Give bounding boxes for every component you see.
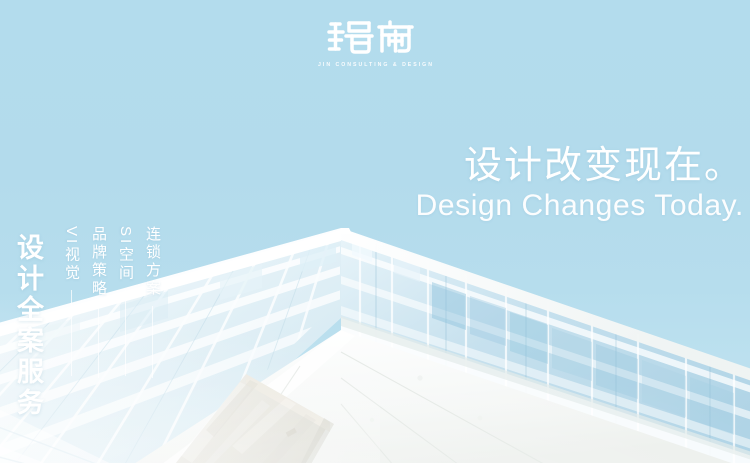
service-item-si[interactable]: SI空间 [112, 226, 139, 376]
headline-english: Design Changes Today. [416, 189, 744, 223]
services-list: 连锁方案 SI空间 品牌策略 VI视觉 [58, 226, 166, 378]
service-label: 品牌策略 [91, 226, 106, 298]
services-title: 设计全案服务 [14, 233, 41, 419]
service-item-vi[interactable]: VI视觉 [58, 226, 85, 376]
service-item-brand[interactable]: 品牌策略 [85, 226, 112, 378]
service-item-lianshuo[interactable]: 连锁方案 [139, 226, 166, 378]
service-rule [125, 290, 126, 376]
service-rule [152, 306, 153, 378]
service-label: 连锁方案 [145, 226, 160, 298]
service-label: VI视觉 [64, 226, 79, 282]
service-rule [71, 290, 72, 376]
service-label: SI空间 [118, 226, 133, 282]
service-rule [98, 306, 99, 378]
headline-chinese: 设计改变现在。 [416, 146, 744, 187]
poster-canvas: JIN CONSULTING & DESIGN 设计改变现在。 Design C… [0, 0, 750, 463]
hero-headline: 设计改变现在。 Design Changes Today. [416, 146, 744, 223]
